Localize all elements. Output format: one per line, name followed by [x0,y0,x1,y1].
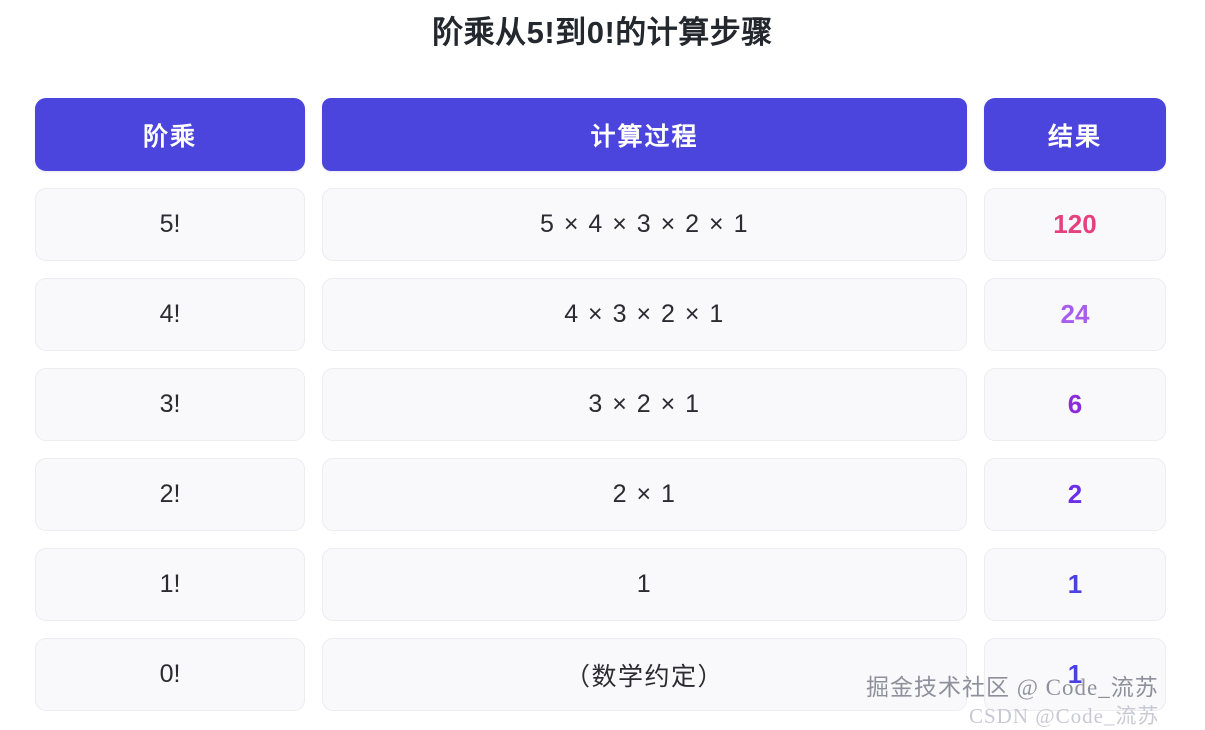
cell-factorial: 5! [35,188,305,261]
cell-process: 5 × 4 × 3 × 2 × 1 [322,188,967,261]
table-row: 3! 3 × 2 × 1 6 [35,368,1166,441]
cell-result: 2 [984,458,1166,531]
cell-factorial: 2! [35,458,305,531]
cell-factorial: 4! [35,278,305,351]
page-root: 阶乘从5!到0!的计算步骤 阶乘 计算过程 结果 5! 5 × 4 × 3 × … [0,0,1205,725]
cell-factorial: 0! [35,638,305,711]
table-row: 0! （数学约定） 1 [35,638,1166,711]
cell-result: 120 [984,188,1166,261]
cell-process: 2 × 1 [322,458,967,531]
cell-result: 1 [984,548,1166,621]
factorial-steps-table: 阶乘 计算过程 结果 5! 5 × 4 × 3 × 2 × 1 120 4! 4… [35,98,1166,728]
cell-process: （数学约定） [322,638,967,711]
cell-result: 1 [984,638,1166,711]
cell-result: 6 [984,368,1166,441]
table-row: 4! 4 × 3 × 2 × 1 24 [35,278,1166,351]
cell-process: 3 × 2 × 1 [322,368,967,441]
cell-factorial: 1! [35,548,305,621]
table-header-row: 阶乘 计算过程 结果 [35,98,1166,171]
cell-result: 24 [984,278,1166,351]
column-header-process: 计算过程 [322,98,967,171]
table-row: 1! 1 1 [35,548,1166,621]
cell-factorial: 3! [35,368,305,441]
column-header-result: 结果 [984,98,1166,171]
table-row: 5! 5 × 4 × 3 × 2 × 1 120 [35,188,1166,261]
column-header-factorial: 阶乘 [35,98,305,171]
cell-process: 4 × 3 × 2 × 1 [322,278,967,351]
page-title: 阶乘从5!到0!的计算步骤 [0,0,1205,61]
cell-process: 1 [322,548,967,621]
table-row: 2! 2 × 1 2 [35,458,1166,531]
